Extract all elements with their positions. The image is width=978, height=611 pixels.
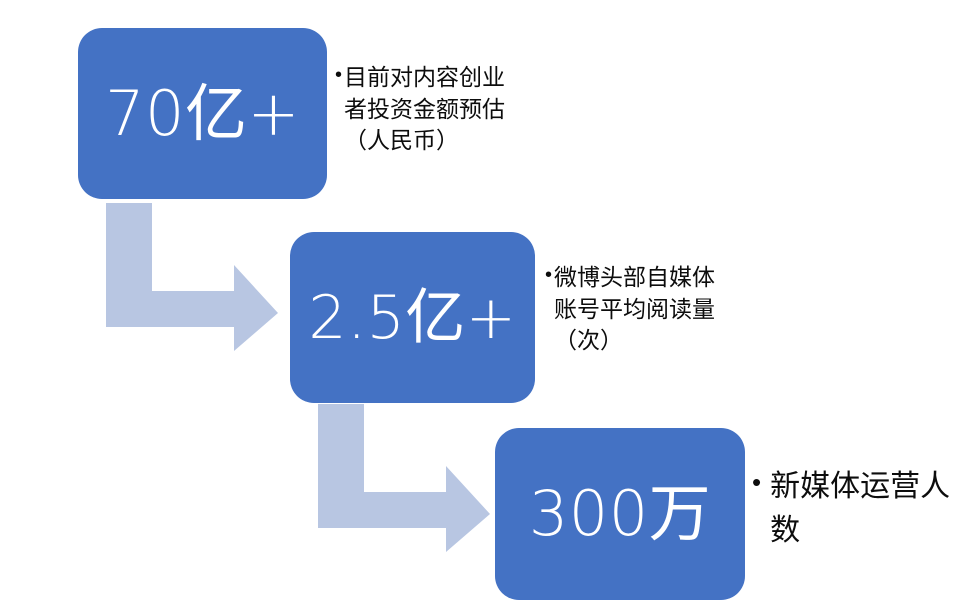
value-box-step-3[interactable]: 300万 bbox=[495, 428, 745, 600]
caption-text-step-1: 目前对内容创业者投资金额预估（人民币） bbox=[344, 62, 520, 157]
value-label-step-1: 70亿+ bbox=[105, 83, 300, 145]
diagram-canvas: 70亿+ • 目前对内容创业者投资金额预估（人民币） 2.5亿+ • 微博头部自… bbox=[0, 0, 978, 611]
bullet-icon-step-1: • bbox=[335, 62, 344, 90]
value-box-step-2[interactable]: 2.5亿+ bbox=[290, 232, 535, 403]
caption-step-3: • 新媒体运营人数 bbox=[752, 465, 952, 552]
bullet-icon-step-2: • bbox=[545, 262, 554, 290]
bullet-icon-step-3: • bbox=[752, 465, 770, 501]
caption-text-step-2: 微博头部自媒体账号平均阅读量（次） bbox=[554, 262, 727, 357]
caption-text-step-3: 新媒体运营人数 bbox=[770, 465, 952, 552]
value-label-step-3: 300万 bbox=[529, 483, 711, 545]
caption-step-2: • 微博头部自媒体账号平均阅读量（次） bbox=[545, 262, 727, 357]
connector-arrow-2 bbox=[318, 404, 490, 552]
connector-arrow-1 bbox=[106, 203, 278, 351]
caption-step-1: • 目前对内容创业者投资金额预估（人民币） bbox=[335, 62, 520, 157]
value-label-step-2: 2.5亿+ bbox=[308, 288, 516, 348]
value-box-step-1[interactable]: 70亿+ bbox=[78, 28, 327, 199]
